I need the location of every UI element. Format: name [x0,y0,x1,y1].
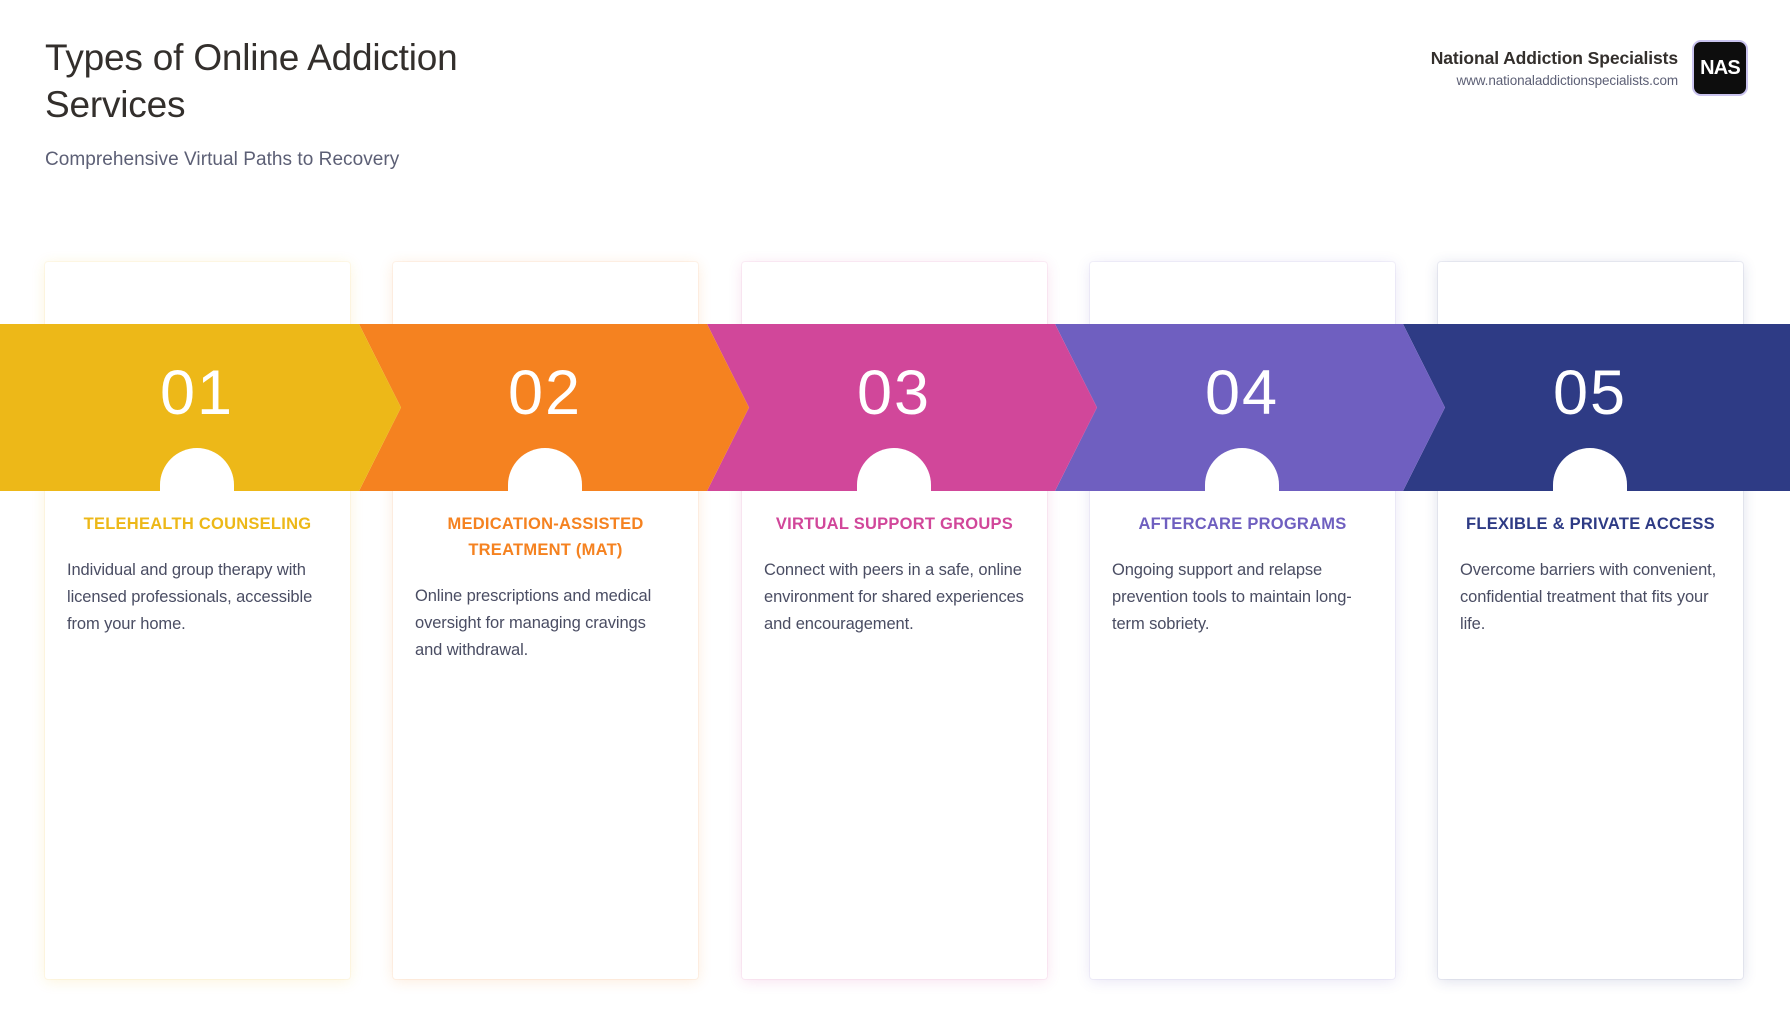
step-number: 04 [1205,362,1279,425]
card-title: VIRTUAL SUPPORT GROUPS [764,511,1025,537]
card-description: Online prescriptions and medical oversig… [415,583,676,663]
page-subtitle: Comprehensive Virtual Paths to Recovery [45,149,605,171]
step-number: 02 [508,362,582,425]
card-description: Individual and group therapy with licens… [67,557,328,637]
card-title: FLEXIBLE & PRIVATE ACCESS [1460,511,1721,537]
card-description: Overcome barriers with convenient, confi… [1460,557,1721,637]
chevron-band-layer: 0102030405 [0,324,1790,491]
title-block: Types of Online Addiction Services Compr… [45,34,605,171]
brand-url[interactable]: www.nationaladdictionspecialists.com [1431,73,1678,88]
brand-block: National Addiction Specialists www.natio… [1431,40,1748,96]
card-description: Connect with peers in a safe, online env… [764,557,1025,637]
logo-text: NAS [1700,57,1740,80]
card-title: AFTERCARE PROGRAMS [1112,511,1373,537]
page-title: Types of Online Addiction Services [45,34,605,129]
step-number: 01 [160,362,234,425]
brand-text: National Addiction Specialists www.natio… [1431,48,1678,88]
card-title: MEDICATION-ASSISTED TREATMENT (MAT) [415,511,676,563]
nas-logo-icon: NAS [1692,40,1748,96]
step-number: 03 [857,362,931,425]
card-title: TELEHEALTH COUNSELING [67,511,328,537]
page-header: Types of Online Addiction Services Compr… [0,0,1790,225]
infographic-page: Types of Online Addiction Services Compr… [0,0,1790,1024]
step-number: 05 [1553,362,1627,425]
card-description: Ongoing support and relapse prevention t… [1112,557,1373,637]
brand-name: National Addiction Specialists [1431,48,1678,69]
